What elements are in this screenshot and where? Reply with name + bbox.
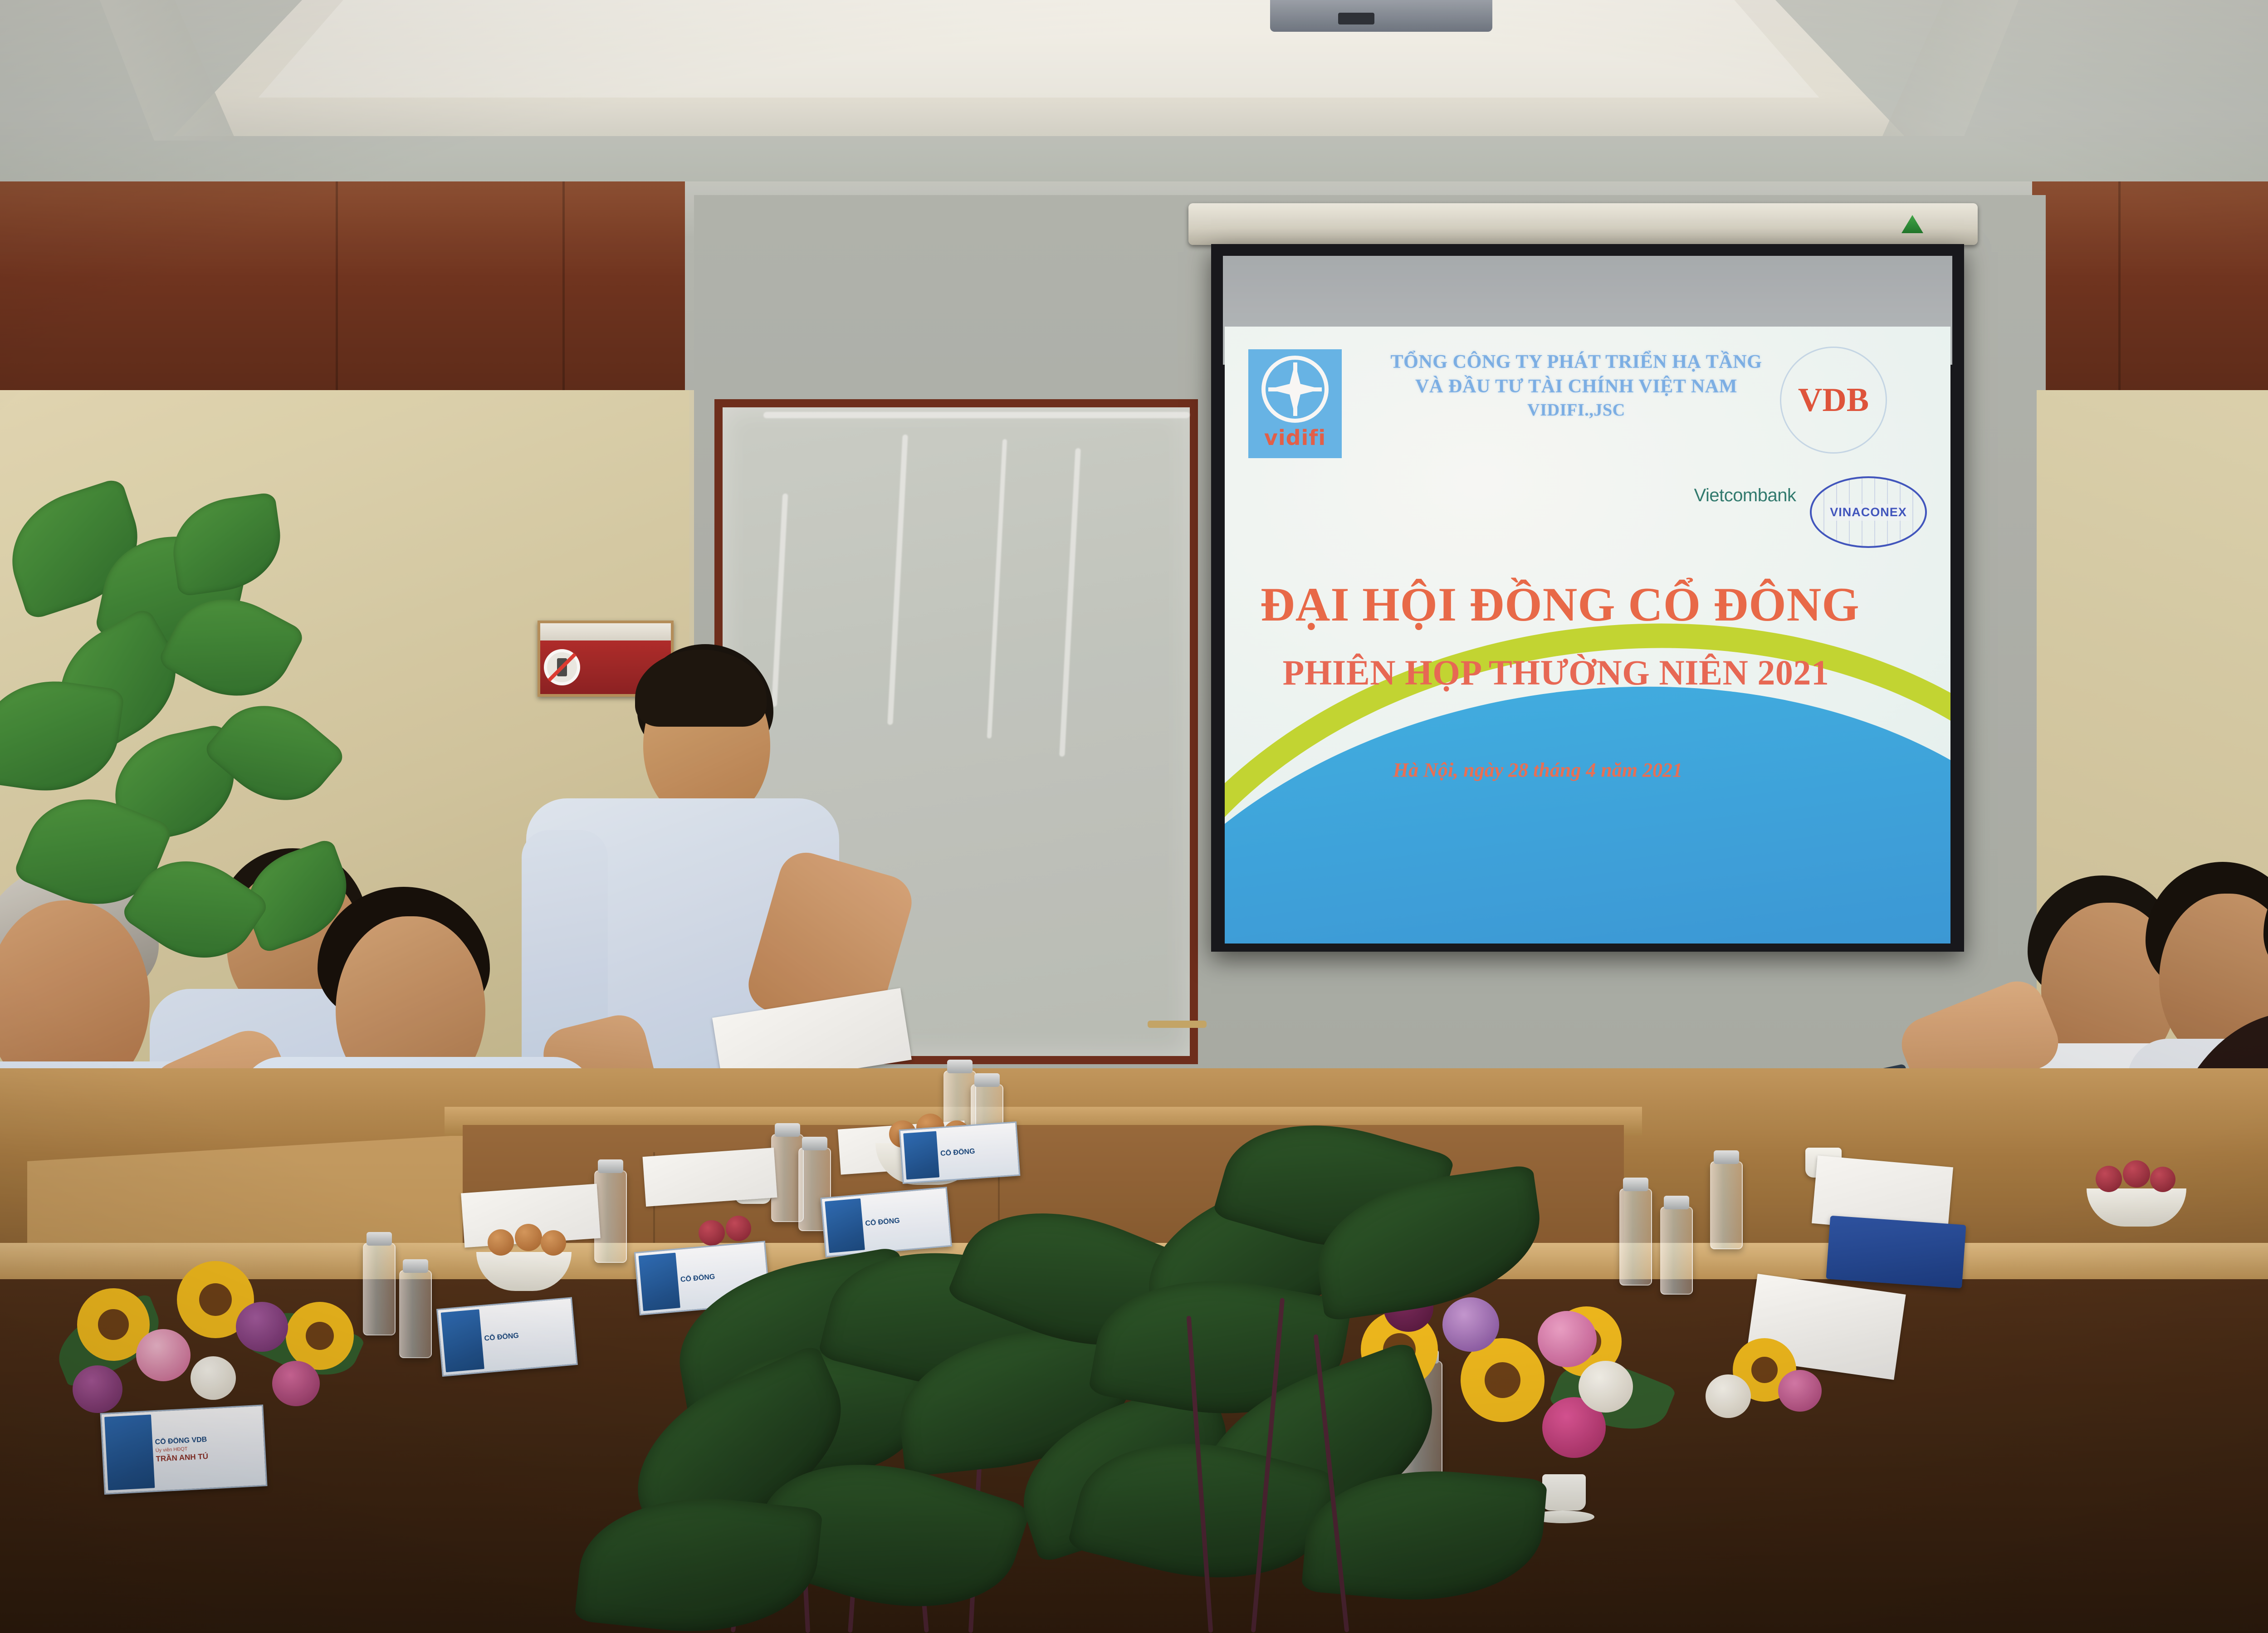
vidifi-wordmark: vidifi	[1264, 425, 1326, 450]
nameplate-line1: CỔ ĐÔNG	[940, 1145, 1015, 1158]
fruit	[2123, 1160, 2150, 1188]
nameplate-tran-anh-tu: CỔ ĐÔNG VDB Ủy viên HĐQT TRẦN ANH TÚ	[100, 1404, 268, 1495]
whiteboard-marker-tray	[1148, 1021, 1207, 1028]
projection-screen: vidifi TỔNG CÔNG TY PHÁT TRIỂN HẠ TẦNG V…	[1175, 191, 2023, 975]
vidifi-logo: vidifi	[1248, 349, 1342, 458]
nameplate-line1: CỔ ĐÔNG	[484, 1327, 571, 1343]
slide-title: ĐẠI HỘI ĐỒNG CỔ ĐÔNG	[1245, 581, 1875, 629]
nameplate-2: CỔ ĐÔNG	[436, 1297, 578, 1377]
sign-top-strip	[540, 623, 671, 640]
vinaconex-logo: VINACONEX	[1810, 476, 1927, 548]
nameplate-line1: CỔ ĐÔNG	[865, 1213, 946, 1228]
nameplate-4: CỔ ĐÔNG	[820, 1187, 952, 1257]
fruit	[515, 1224, 542, 1251]
nameplate-logo	[441, 1309, 484, 1372]
no-phone-icon	[544, 649, 580, 685]
water-bottle	[1619, 1188, 1652, 1286]
fruit	[2096, 1166, 2122, 1192]
wood-panel-band-left	[0, 181, 685, 395]
roller-brand-icon	[1901, 215, 1923, 233]
vinaconex-wordmark: VINACONEX	[1827, 504, 1910, 521]
slide-subtitle: PHIÊN HỌP THƯỜNG NIÊN 2021	[1238, 652, 1873, 693]
water-bottle	[399, 1270, 432, 1358]
slide-header-line3: VIDIFI.,JSC	[1361, 399, 1792, 421]
teacup	[1542, 1474, 1586, 1511]
meeting-room-photo: vidifi TỔNG CÔNG TY PHÁT TRIỂN HẠ TẦNG V…	[0, 0, 2268, 1633]
nameplate-logo	[104, 1414, 155, 1490]
ceiling-cove-inner	[191, 0, 1887, 98]
vdb-logo: VDB	[1780, 347, 1887, 454]
ceiling-projector-mount	[1270, 0, 1492, 32]
fruit	[726, 1216, 751, 1241]
water-bottle	[594, 1170, 627, 1263]
vietcombank-logo: Vietcombank	[1684, 468, 1806, 506]
vietcombank-wordmark: Vietcombank	[1694, 485, 1796, 505]
screen-roller-housing	[1188, 203, 1978, 245]
water-bottle	[1710, 1161, 1743, 1249]
slide-content: vidifi TỔNG CÔNG TY PHÁT TRIỂN HẠ TẦNG V…	[1225, 327, 1950, 944]
fruit	[488, 1229, 514, 1256]
blue-folder	[1826, 1216, 1966, 1289]
wood-panel-band-right	[2032, 181, 2268, 395]
vidifi-mark-icon	[1261, 356, 1329, 423]
slide-header-line2: VÀ ĐẦU TƯ TÀI CHÍNH VIỆT NAM	[1361, 375, 1792, 399]
fruit	[541, 1230, 566, 1256]
slide-header: TỔNG CÔNG TY PHÁT TRIỂN HẠ TẦNG VÀ ĐẦU T…	[1361, 350, 1792, 421]
nameplate-logo	[639, 1253, 680, 1311]
slide-header-line1: TỔNG CÔNG TY PHÁT TRIỂN HẠ TẦNG	[1361, 350, 1792, 375]
water-bottle	[363, 1243, 396, 1335]
fruit	[699, 1220, 725, 1246]
vietcombank-mark-icon	[1684, 478, 1806, 485]
nameplate-logo	[825, 1198, 865, 1253]
nameplate-logo	[903, 1131, 939, 1180]
slide-date: Hà Nội, ngày 28 tháng 4 năm 2021	[1252, 758, 1823, 782]
fruit	[2150, 1167, 2175, 1192]
vdb-wordmark: VDB	[1798, 381, 1869, 420]
document-stack	[643, 1148, 777, 1207]
nameplate-5: CỔ ĐÔNG	[899, 1121, 1021, 1184]
water-bottle	[1660, 1207, 1693, 1295]
